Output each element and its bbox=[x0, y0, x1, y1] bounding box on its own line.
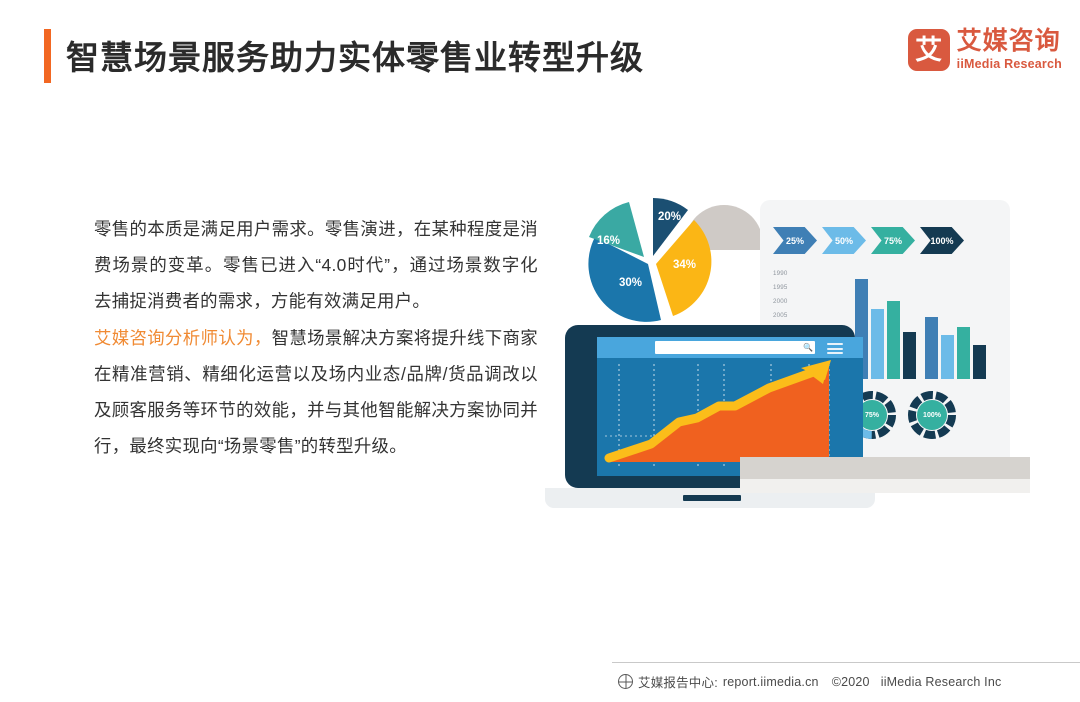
footer-copyright: ©2020 bbox=[832, 675, 870, 689]
body-text-block: 零售的本质是满足用户需求。零售演进，在某种程度是消费场景的变革。零售已进入“4.… bbox=[94, 211, 538, 464]
footer-site-label: 艾媒报告中心: bbox=[638, 672, 718, 691]
laptop-screen: 🔍 bbox=[597, 337, 863, 476]
bar-2-2 bbox=[941, 335, 954, 379]
bar-1-3 bbox=[887, 301, 900, 379]
title-accent-bar bbox=[44, 29, 51, 83]
bar-2-3 bbox=[957, 327, 970, 379]
logo-name-cn: 艾媒咨询 bbox=[957, 29, 1062, 54]
bar-2-4 bbox=[973, 345, 986, 379]
footer-divider bbox=[612, 662, 1080, 663]
pie-chart: 20% 34% 30% 16% bbox=[575, 195, 725, 325]
year-tick-3: 2000 bbox=[773, 295, 805, 309]
globe-icon bbox=[618, 674, 633, 689]
page-title: 智慧场景服务助力实体零售业转型升级 bbox=[66, 31, 644, 79]
logo-text: 艾媒咨询 iiMedia Research bbox=[957, 29, 1062, 71]
brand-logo: 艾 艾媒咨询 iiMedia Research bbox=[908, 22, 1062, 78]
page-footer: 艾媒报告中心: report.iimedia.cn ©2020 iiMedia … bbox=[0, 662, 1080, 702]
laptop-trackpad bbox=[683, 495, 741, 501]
year-tick-2: 1995 bbox=[773, 281, 805, 295]
laptop-device: 🔍 bbox=[545, 325, 875, 530]
logo-mark-icon: 艾 bbox=[908, 29, 950, 71]
paragraph-1: 零售的本质是满足用户需求。零售演进，在某种程度是消费场景的变革。零售已进入“4.… bbox=[94, 211, 538, 319]
paragraph-2-lead: 艾媒咨询分析师认为， bbox=[94, 328, 272, 348]
donut-3-label: 100% bbox=[917, 400, 947, 430]
donut-chart-3: 100% bbox=[908, 391, 956, 439]
desk-surface-front bbox=[740, 479, 1030, 493]
year-tick-1: 1990 bbox=[773, 267, 805, 281]
illustration-graphic: 20% 34% 30% 16% 25% 50% 75% 100% 1990 19… bbox=[545, 185, 1025, 545]
chevron-step-3[interactable]: 75% bbox=[871, 227, 915, 254]
footer-content: 艾媒报告中心: report.iimedia.cn ©2020 iiMedia … bbox=[618, 672, 1001, 691]
hamburger-menu-icon[interactable] bbox=[827, 343, 843, 354]
browser-toolbar: 🔍 bbox=[597, 337, 863, 358]
pie-chart-svg bbox=[575, 195, 725, 325]
chevron-step-2[interactable]: 50% bbox=[822, 227, 866, 254]
chevron-step-4[interactable]: 100% bbox=[920, 227, 964, 254]
footer-site-url[interactable]: report.iimedia.cn bbox=[723, 675, 819, 689]
search-input[interactable]: 🔍 bbox=[655, 341, 815, 354]
desk-surface bbox=[740, 457, 1030, 479]
bar-1-4 bbox=[903, 332, 916, 379]
bar-group-2 bbox=[925, 317, 986, 379]
paragraph-2: 艾媒咨询分析师认为，智慧场景解决方案将提升线下商家在精准营销、精细化运营以及场内… bbox=[94, 320, 538, 464]
year-tick-4: 2005 bbox=[773, 309, 805, 323]
bar-2-1 bbox=[925, 317, 938, 379]
chevron-step-1[interactable]: 25% bbox=[773, 227, 817, 254]
logo-name-en: iiMedia Research bbox=[957, 58, 1062, 71]
chevron-process-row: 25% 50% 75% 100% bbox=[773, 227, 964, 254]
footer-company: iiMedia Research Inc bbox=[881, 675, 1002, 689]
page-header: 智慧场景服务助力实体零售业转型升级 艾 艾媒咨询 iiMedia Researc… bbox=[0, 0, 1080, 104]
search-icon[interactable]: 🔍 bbox=[803, 343, 812, 352]
